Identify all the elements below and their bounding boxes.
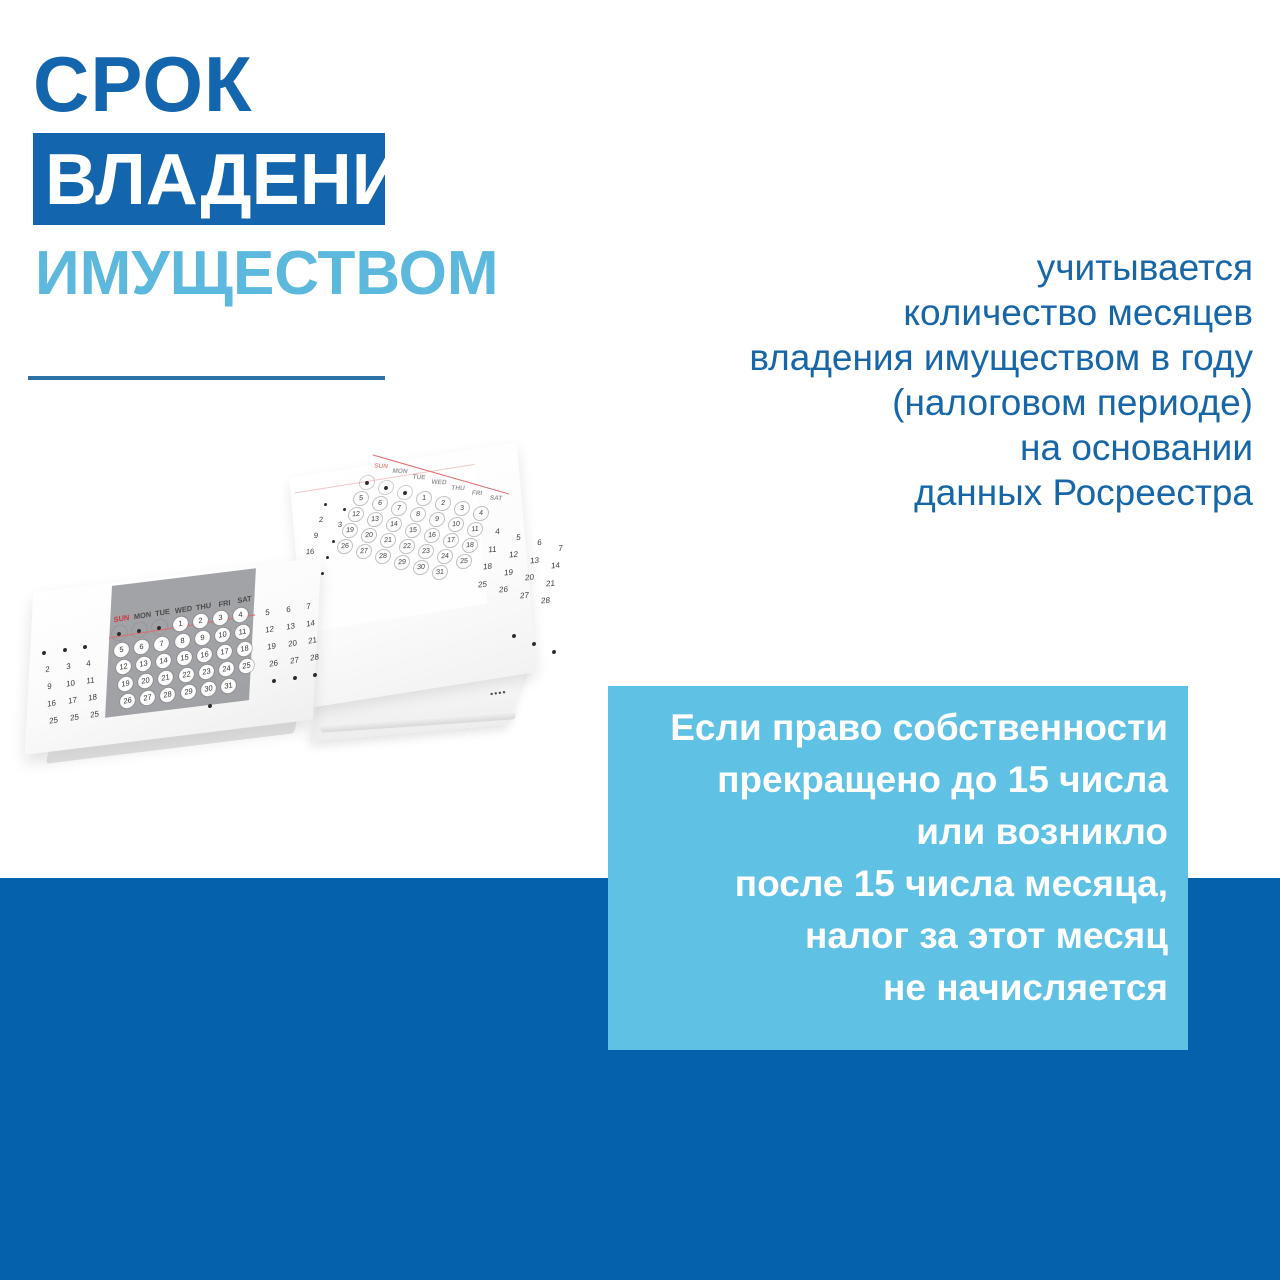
headline-divider-rule (28, 376, 385, 380)
calendar-day-cell: 23 (199, 663, 214, 680)
callout-box: Если право собственности прекращено до 1… (608, 686, 1188, 1050)
intro-line: количество месяцев (633, 290, 1253, 335)
calendar-day-cell: 17 (64, 693, 79, 709)
callout-line: прекращено до 15 числа (638, 754, 1168, 806)
calendar-day-cell: THU (194, 600, 213, 612)
calendar-day-cell: 10 (215, 626, 230, 643)
callout-line: налог за этот месяц (638, 910, 1168, 962)
calendar-day-cell: 8 (174, 632, 189, 649)
calendar-day-cell: 16 (197, 646, 212, 663)
calendar-day-cell: 19 (264, 639, 279, 655)
calendar-day-cell: 25 (239, 657, 254, 674)
front-calendar-grid: SUNMONTUEWEDTHUFRISAT1234567891011121314… (20, 450, 600, 850)
calendar-day-cell (272, 679, 276, 684)
callout-line: не начисляется (638, 962, 1168, 1014)
calendar-day-cell: 18 (237, 640, 252, 657)
callout-text: Если право собственности прекращено до 1… (638, 702, 1168, 1014)
callout-line: Если право собственности (638, 702, 1168, 754)
calendar-day-cell: 26 (120, 693, 135, 710)
calendar-day-cell: 10 (62, 676, 77, 692)
calendar-day-cell: SUN (112, 612, 131, 624)
calendar-day-cell: 3 (60, 659, 75, 675)
intro-line: учитывается (633, 245, 1253, 290)
calendar-day-cell: 18 (85, 689, 100, 705)
calendar-day-cell: 19 (118, 676, 133, 693)
infographic-poster: СРОК ВЛАДЕНИЯ ИМУЩЕСТВОМ учитывается кол… (0, 0, 1280, 1280)
calendar-day-cell: 25 (46, 713, 61, 729)
calendar-day-cell: 13 (136, 656, 151, 673)
calendar-day-cell: 2 (193, 612, 208, 629)
calendar-day-cell: 11 (83, 672, 98, 688)
calendar-day-cell: 12 (262, 622, 277, 638)
calendar-day-cell: 1 (172, 615, 187, 632)
calendar-day-cell: 29 (180, 683, 195, 700)
calendar-day-cell: 20 (284, 636, 299, 652)
calendar-day-cell: 9 (42, 679, 57, 695)
calendar-day-cell: SAT (235, 594, 254, 606)
callout-line: или возникло (638, 806, 1168, 858)
calendar-day-cell: 9 (195, 629, 210, 646)
calendar-day-cell: 4 (233, 606, 248, 623)
callout-line: после 15 числа месяца, (638, 858, 1168, 910)
calendar-day-cell (208, 704, 212, 709)
calendar-day-cell: MON (132, 609, 151, 621)
calendar-day-cell: 25 (66, 710, 81, 726)
calendar-day-cell: 16 (44, 696, 59, 712)
headline-block: СРОК ВЛАДЕНИЯ ИМУЩЕСТВОМ (0, 0, 640, 330)
calendar-day-cell: 14 (303, 615, 318, 631)
calendar-day-cell: TUE (153, 606, 172, 618)
calendar-day-cell: 30 (201, 680, 216, 697)
intro-line: на основании (633, 425, 1253, 470)
calendar-day-cell: 28 (307, 649, 322, 665)
intro-line: владения имуществом в году (633, 335, 1253, 380)
calendar-day-cell: 4 (81, 655, 96, 671)
calendar-day-cell: 26 (266, 656, 281, 672)
calendar-day-cell: 27 (140, 690, 155, 707)
intro-paragraph: учитывается количество месяцев владения … (633, 245, 1253, 515)
calendar-day-cell: 5 (260, 605, 275, 621)
calendar-day-cell: 31 (221, 677, 236, 694)
calendar-day-cell: 13 (282, 619, 297, 635)
calendar-day-cell: 17 (217, 643, 232, 660)
desk-calendar-photo: SUNMONTUEWEDTHUFRISAT1234567891011121314… (20, 450, 600, 850)
calendar-day-cell: 6 (134, 639, 149, 656)
calendar-day-cell: 6 (280, 602, 295, 618)
intro-line: данных Росреестра (633, 470, 1253, 515)
calendar-day-cell: 11 (235, 623, 250, 640)
calendar-day-cell: WED (173, 603, 192, 615)
calendar-day-cell: 27 (286, 653, 301, 669)
intro-line: (налоговом периоде) (633, 380, 1253, 425)
calendar-day-cell: 22 (178, 666, 193, 683)
calendar-day-cell: 21 (158, 670, 173, 687)
calendar-day-cell: 21 (305, 632, 320, 648)
headline-line-3: ИМУЩЕСТВОМ (35, 240, 499, 308)
headline-line-2: ВЛАДЕНИЯ (45, 140, 455, 220)
calendar-day-cell: 7 (154, 636, 169, 653)
calendar-day-cell (313, 673, 317, 678)
calendar-day-cell: 2 (40, 662, 55, 678)
calendar-day-cell (293, 676, 297, 681)
calendar-day-cell (83, 645, 87, 650)
calendar-day-cell (42, 651, 46, 656)
calendar-day-cell: 12 (116, 659, 131, 676)
calendar-day-cell (112, 625, 127, 642)
calendar-day-cell: 5 (114, 642, 129, 659)
calendar-day-cell: 14 (156, 653, 171, 670)
calendar-day-cell: 20 (138, 673, 153, 690)
calendar-day-cell: 24 (219, 660, 234, 677)
calendar-day-cell (63, 648, 67, 653)
calendar-day-cell: 28 (160, 687, 175, 704)
calendar-day-cell: 15 (176, 649, 191, 666)
calendar-day-cell: FRI (214, 597, 233, 609)
headline-line-1: СРОК (33, 40, 253, 128)
calendar-day-cell (132, 622, 147, 639)
calendar-day-cell: 25 (87, 706, 102, 722)
calendar-day-cell (152, 619, 167, 636)
calendar-day-cell: 3 (213, 609, 228, 626)
calendar-day-cell: 7 (301, 598, 316, 614)
